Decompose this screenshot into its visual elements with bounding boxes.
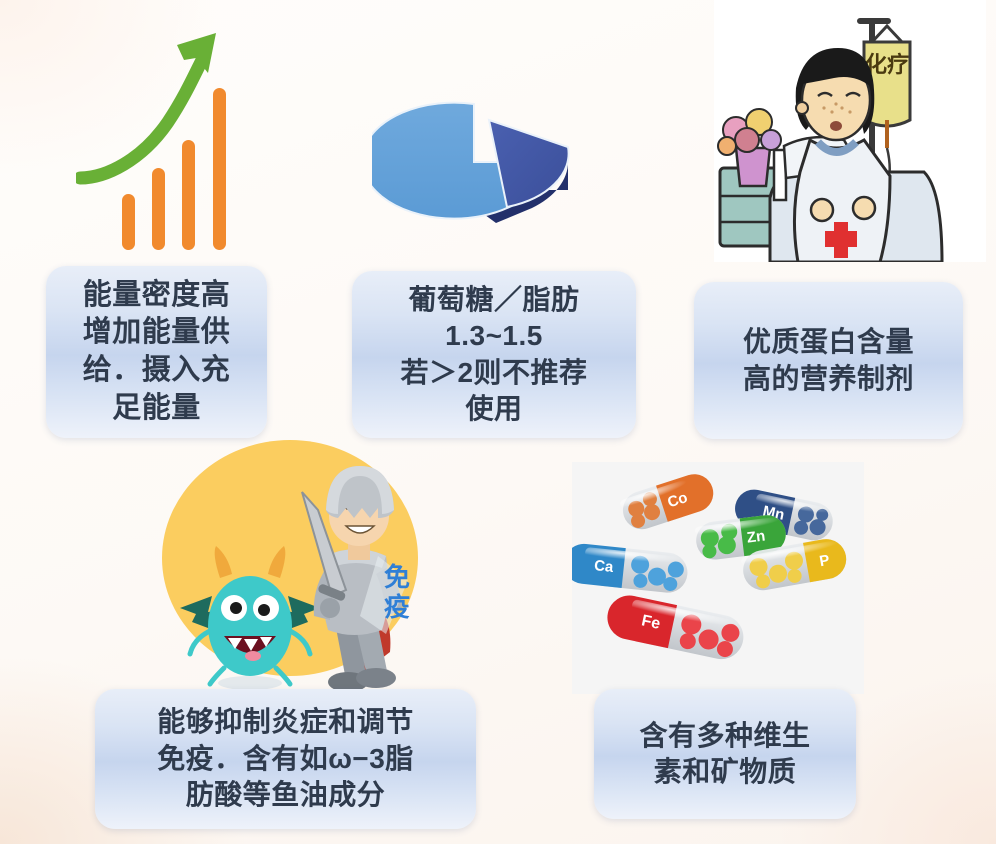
callout-text-vitamins-minerals: 含有多种维生 素和矿物质	[639, 718, 810, 791]
callout-card-high-quality-protein: 优质蛋白含量 高的营养制剂	[694, 282, 963, 439]
callout-text-high-quality-protein: 优质蛋白含量 高的营养制剂	[743, 324, 914, 397]
callout-text-glucose-fat-ratio: 葡萄糖／脂肪 1.3~1.5 若＞2则不推荐 使用	[400, 282, 587, 428]
callout-card-omega3-fish-oil: 能够抑制炎症和调节 免疫．含有如ω−3脂 肪酸等鱼油成分	[95, 689, 476, 829]
capsule-label-ca: Ca	[593, 557, 615, 576]
growth-chart-icon	[76, 18, 266, 268]
callout-card-vitamins-minerals: 含有多种维生 素和矿物质	[594, 689, 856, 819]
vitamin-capsules-photo: Co Mn Zn	[572, 462, 864, 694]
immunity-knight-illustration: 免 疫	[150, 430, 440, 700]
immunity-banner-label-line2: 疫	[384, 592, 410, 623]
callout-text-energy-density: 能量密度高 增加能量供 给．摄入充 足能量	[83, 277, 231, 428]
callout-card-energy-density: 能量密度高 增加能量供 给．摄入充 足能量	[46, 266, 267, 438]
immunity-banner-label-line1: 免	[384, 562, 410, 593]
growth-arrow	[80, 33, 216, 178]
capsule-label-zn: Zn	[746, 527, 766, 546]
callout-card-glucose-fat-ratio: 葡萄糖／脂肪 1.3~1.5 若＞2则不推荐 使用	[352, 271, 636, 438]
callout-text-omega3-fish-oil: 能够抑制炎症和调节 免疫．含有如ω−3脂 肪酸等鱼油成分	[157, 704, 414, 813]
pie-chart-icon	[372, 92, 598, 258]
chemotherapy-patient-illustration: 化疗	[714, 0, 986, 262]
